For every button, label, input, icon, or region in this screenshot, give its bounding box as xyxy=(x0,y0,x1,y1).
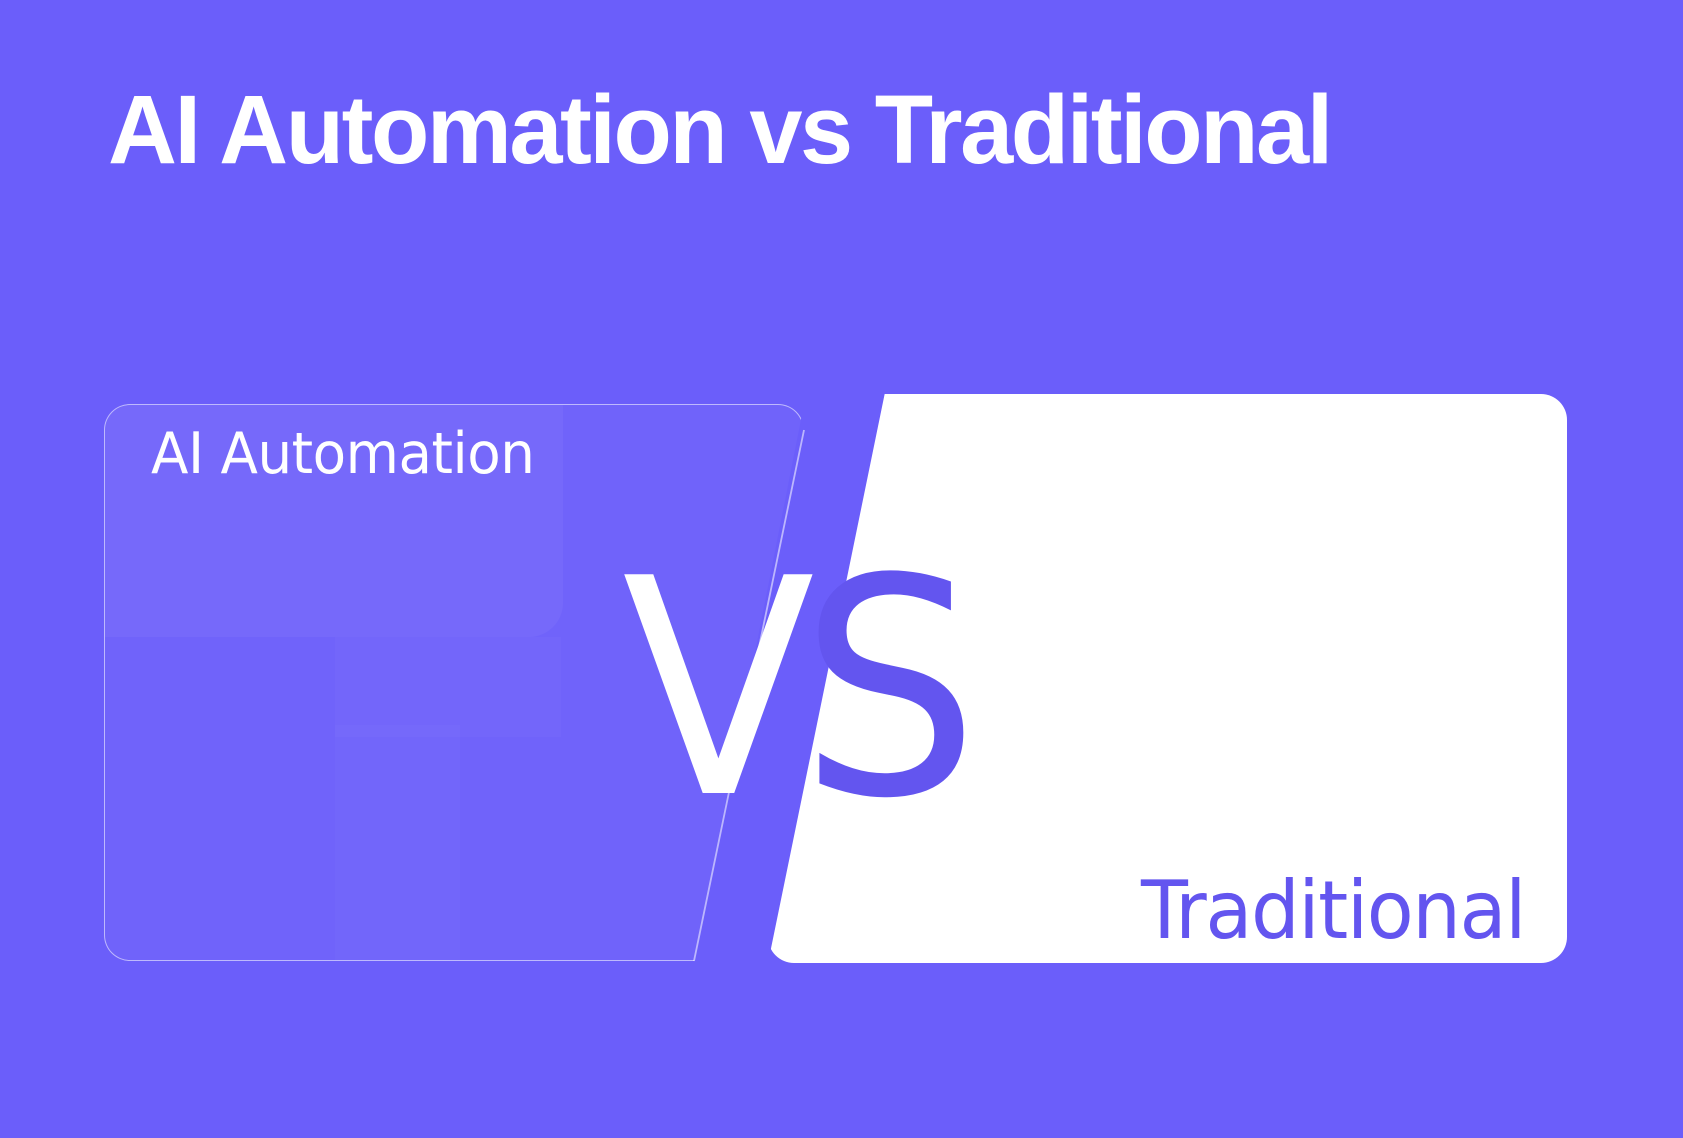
card-traditional[interactable]: Traditional xyxy=(768,394,1567,963)
card-ai-automation[interactable]: AI Automation xyxy=(104,404,804,961)
slide-canvas: AI Automation vs Traditional AI Automati… xyxy=(0,0,1683,1138)
decorative-block-b xyxy=(335,637,561,737)
decorative-block-c xyxy=(335,725,460,961)
comparison-layout: AI Automation Traditional V S xyxy=(0,0,1683,1138)
card-traditional-label: Traditional xyxy=(1141,864,1525,957)
card-ai-automation-label: AI Automation xyxy=(151,421,534,487)
